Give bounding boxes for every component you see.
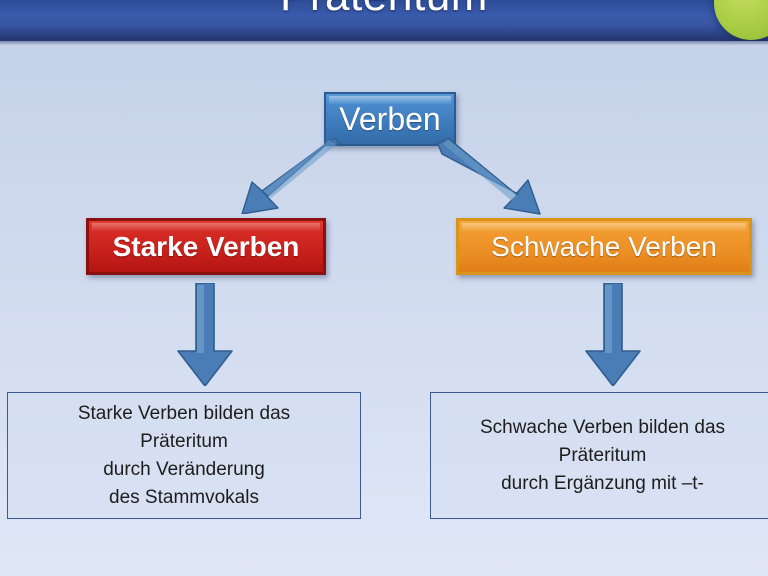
node-schwache-verben-label: Schwache Verben <box>491 231 717 263</box>
description-box-schwache: Schwache Verben bilden dasPräteritumdurc… <box>430 392 768 519</box>
arrow-starke-to-description-icon <box>170 283 240 386</box>
page-title: Präteritum <box>0 0 768 22</box>
arrow-root-to-schwache-icon <box>432 138 544 218</box>
title-bar-divider <box>0 41 768 45</box>
node-verben-label: Verben <box>339 101 440 138</box>
description-schwache-text: Schwache Verben bilden dasPräteritumdurc… <box>431 414 768 498</box>
arrow-root-to-starke-icon <box>238 138 342 214</box>
title-bar: Präteritum <box>0 0 768 41</box>
node-schwache-verben[interactable]: Schwache Verben <box>456 218 752 275</box>
node-starke-verben[interactable]: Starke Verben <box>86 218 326 275</box>
node-starke-verben-label: Starke Verben <box>113 231 300 263</box>
description-box-starke: Starke Verben bilden dasPräteritumdurch … <box>7 392 361 519</box>
slide-canvas: Präteritum Verben Starke Verben Schwache… <box>0 0 768 576</box>
arrow-schwache-to-description-icon <box>578 283 648 386</box>
description-starke-text: Starke Verben bilden dasPräteritumdurch … <box>8 400 360 512</box>
